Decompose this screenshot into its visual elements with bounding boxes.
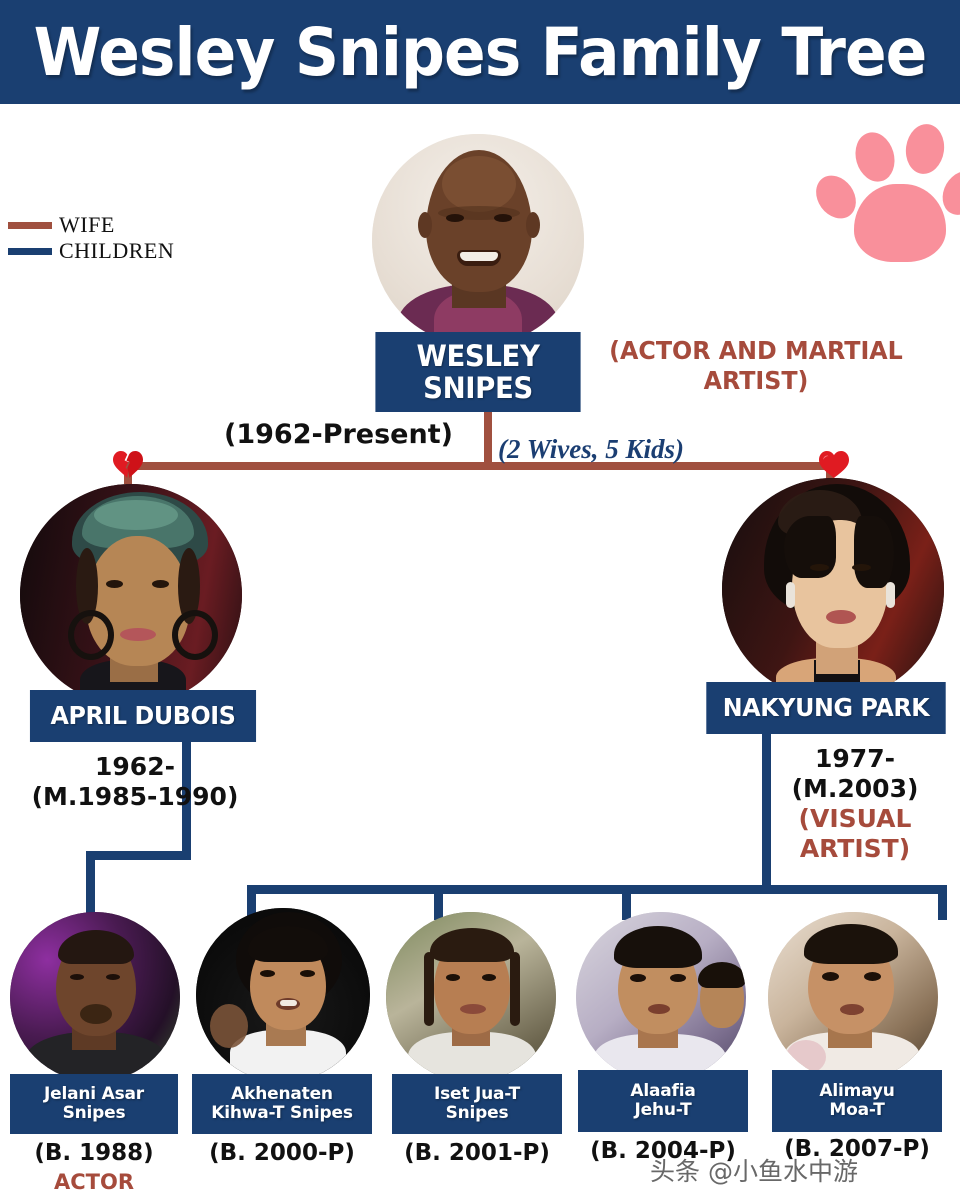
child-1-name-line-2: Snipes bbox=[63, 1103, 126, 1123]
child-nameplate-3[interactable]: Iset Jua-T Snipes bbox=[392, 1074, 562, 1134]
page-title: Wesley Snipes Family Tree bbox=[34, 0, 927, 104]
april-dubois-born: 1962- bbox=[95, 752, 175, 781]
nakyung-park-occupation: (VISUAL ARTIST) bbox=[799, 804, 912, 863]
april-dubois-name: APRIL DUBOIS bbox=[50, 702, 235, 730]
child-1-born: (B. 1988) bbox=[10, 1140, 178, 1168]
wesley-occupation-line-2: ARTIST) bbox=[704, 366, 809, 395]
iset-jua-t-snipes-photo bbox=[386, 912, 556, 1082]
connector-april-across bbox=[86, 851, 191, 860]
april-dubois-marriage: (M.1985-1990) bbox=[32, 782, 239, 811]
connector-children-bus bbox=[247, 885, 947, 894]
child-nameplate-5[interactable]: Alimayu Moa-T bbox=[772, 1070, 942, 1132]
child-5-name-line-2: Moa-T bbox=[829, 1100, 884, 1120]
connector-child-5-drop bbox=[938, 885, 947, 920]
nakyung-park-marriage: (M.2003) bbox=[792, 774, 919, 803]
april-dubois-nameplate[interactable]: APRIL DUBOIS bbox=[30, 690, 256, 742]
wesley-occupation: (ACTOR AND MARTIAL ARTIST) bbox=[604, 336, 908, 395]
connector-wesley-stub bbox=[484, 410, 492, 468]
header-banner: Wesley Snipes Family Tree bbox=[0, 0, 960, 104]
child-4-name-line-2: Jehu-T bbox=[634, 1100, 691, 1120]
akhenaten-kihwa-t-snipes-photo bbox=[196, 908, 370, 1082]
legend-swatch-children bbox=[8, 248, 52, 255]
child-nameplate-2[interactable]: Akhenaten Kihwa-T Snipes bbox=[192, 1074, 372, 1134]
child-5-name-line-1: Alimayu bbox=[819, 1081, 894, 1101]
child-2-name-line-1: Akhenaten bbox=[231, 1084, 333, 1104]
alimayu-moa-t-photo bbox=[768, 912, 938, 1082]
child-nameplate-1[interactable]: Jelani Asar Snipes bbox=[10, 1074, 178, 1134]
heart-icon bbox=[817, 448, 851, 480]
wesley-kids-note: (2 Wives, 5 Kids) bbox=[498, 434, 684, 465]
april-dubois-photo bbox=[20, 484, 242, 706]
nakyung-park-name: NAKYUNG PARK bbox=[723, 694, 930, 722]
wesley-name-line-2: SNIPES bbox=[423, 371, 533, 405]
child-3-name-line-2: Snipes bbox=[446, 1103, 509, 1123]
child-3-born: (B. 2001-P) bbox=[392, 1140, 562, 1168]
child-3-name-line-1: Iset Jua-T bbox=[434, 1084, 520, 1104]
wesley-snipes-nameplate[interactable]: WESLEY SNIPES bbox=[375, 332, 580, 412]
broken-heart-icon bbox=[111, 448, 145, 480]
wesley-name-line-1: WESLEY bbox=[416, 339, 539, 373]
wesley-years: (1962-Present) bbox=[224, 419, 453, 450]
legend-swatch-wife bbox=[8, 222, 52, 229]
child-nameplate-4[interactable]: Alaafia Jehu-T bbox=[578, 1070, 748, 1132]
child-2-name-line-2: Kihwa-T Snipes bbox=[211, 1103, 353, 1123]
nakyung-park-details: 1977- (M.2003) (VISUAL ARTIST) bbox=[750, 744, 960, 864]
paw-print-icon bbox=[818, 112, 960, 254]
alaafia-jehu-t-photo bbox=[576, 912, 746, 1082]
watermark: 头条 @小鱼水中游 bbox=[650, 1152, 858, 1188]
legend-label-children: CHILDREN bbox=[59, 238, 174, 264]
legend: WIFE CHILDREN bbox=[8, 212, 174, 264]
nakyung-park-born: 1977- bbox=[815, 744, 895, 773]
jelani-asar-snipes-photo bbox=[10, 912, 180, 1082]
legend-item-wife: WIFE bbox=[8, 212, 174, 238]
child-1-occupation: ACTOR bbox=[10, 1170, 178, 1195]
april-dubois-details: 1962- (M.1985-1990) bbox=[10, 752, 260, 812]
child-2-born: (B. 2000-P) bbox=[192, 1140, 372, 1168]
nakyung-park-nameplate[interactable]: NAKYUNG PARK bbox=[706, 682, 945, 734]
child-4-name-line-1: Alaafia bbox=[630, 1081, 695, 1101]
legend-item-children: CHILDREN bbox=[8, 238, 174, 264]
legend-label-wife: WIFE bbox=[59, 212, 115, 238]
connector-marriage-bar bbox=[124, 462, 834, 470]
wesley-snipes-photo bbox=[372, 134, 584, 346]
nakyung-park-photo bbox=[722, 478, 944, 700]
wesley-occupation-line-1: (ACTOR AND MARTIAL bbox=[609, 336, 903, 365]
family-tree-infographic: Wesley Snipes Family Tree WIFE CHILDREN bbox=[0, 0, 960, 1200]
child-1-name-line-1: Jelani Asar bbox=[44, 1084, 144, 1104]
